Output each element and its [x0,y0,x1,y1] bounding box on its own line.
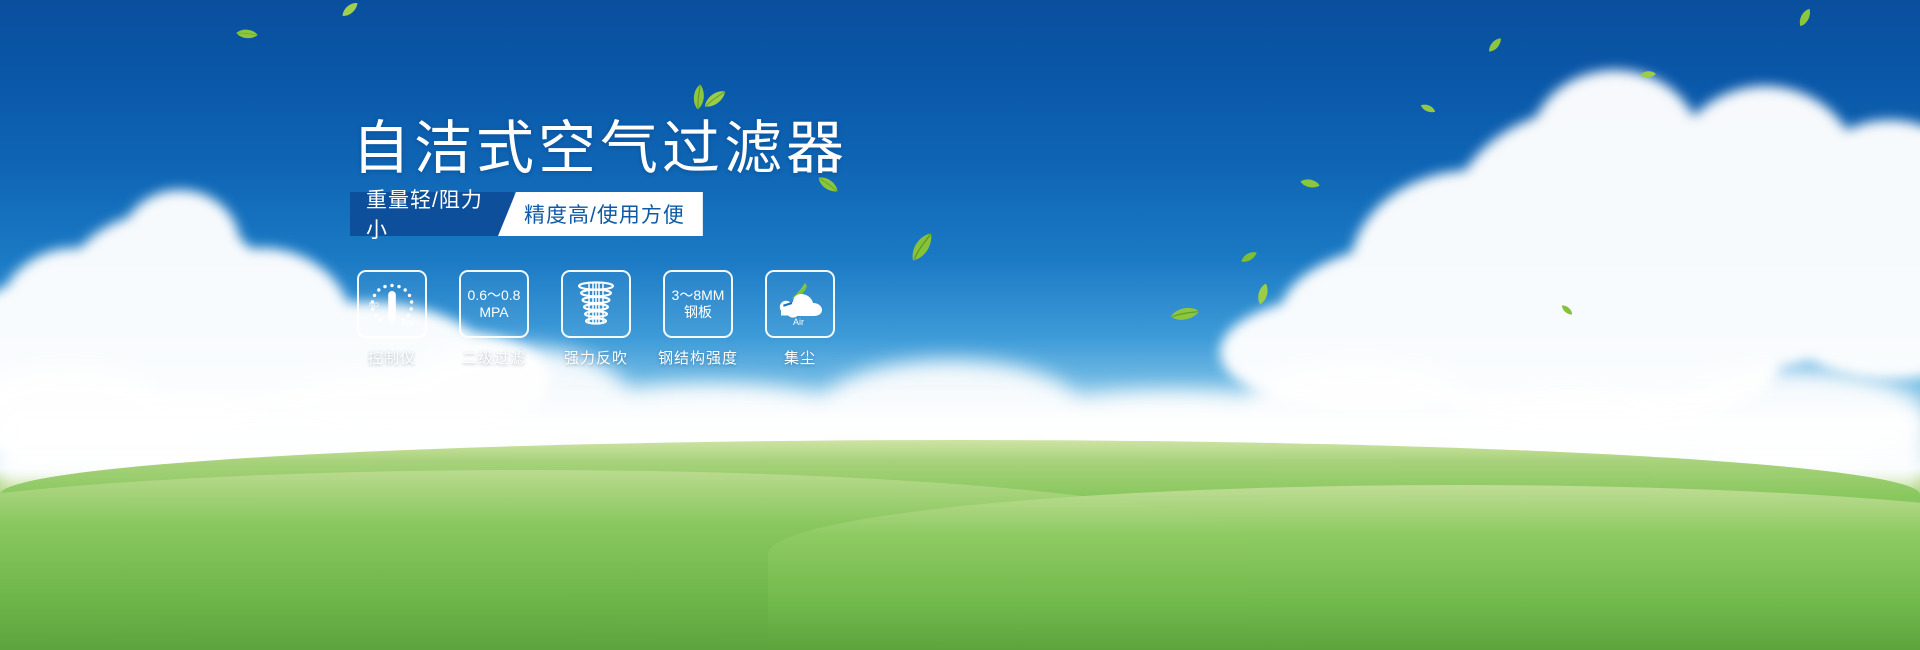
feature-icon-box: NO OFF [357,270,427,338]
dial-mark-no: NO [369,302,379,309]
feature-label: 二级过滤 [462,347,526,368]
feature-icon-box: 0.6～0.8 MPA [459,270,529,338]
feature-item: NO OFF 控制仪 [356,270,428,368]
feature-icon-box [561,270,631,338]
feature-value: 0.6～0.8 [468,287,521,304]
feature-label: 控制仪 [368,347,416,368]
feature-list: NO OFF 控制仪 0.6～0.8 MPA 二级过滤 [356,270,836,368]
coil-spiral-icon [571,278,621,330]
feature-unit: MPA [479,304,508,321]
feature-icon-box: 3～8MM 钢板 [663,270,733,338]
dial-gauge-icon: NO OFF [365,278,419,330]
tagline-left: 重量轻/阻力小 [350,192,514,236]
dial-mark-off: OFF [401,321,414,328]
feature-item: 强力反吹 [560,270,632,368]
tagline-right: 精度高/使用方便 [498,192,703,236]
feature-value: 3～8MM [672,287,725,304]
banner-content: 自洁式空气过滤器 重量轻/阻力小 精度高/使用方便 [0,0,1920,650]
tagline-bar: 重量轻/阻力小 精度高/使用方便 [350,192,703,236]
hero-banner: 自洁式空气过滤器 重量轻/阻力小 精度高/使用方便 [0,0,1920,650]
feature-item: 3～8MM 钢板 钢结构强度 [662,270,734,368]
feature-label: 钢结构强度 [658,347,738,368]
feature-item: Air 集尘 [764,270,836,368]
feature-item: 0.6～0.8 MPA 二级过滤 [458,270,530,368]
cloud-air-icon: Air [771,282,829,326]
cloud-air-label: Air [793,317,804,326]
feature-label: 强力反吹 [564,347,628,368]
feature-unit: 钢板 [684,304,712,321]
feature-icon-box: Air [765,270,835,338]
feature-label: 集尘 [784,347,816,368]
page-title: 自洁式空气过滤器 [352,118,848,180]
